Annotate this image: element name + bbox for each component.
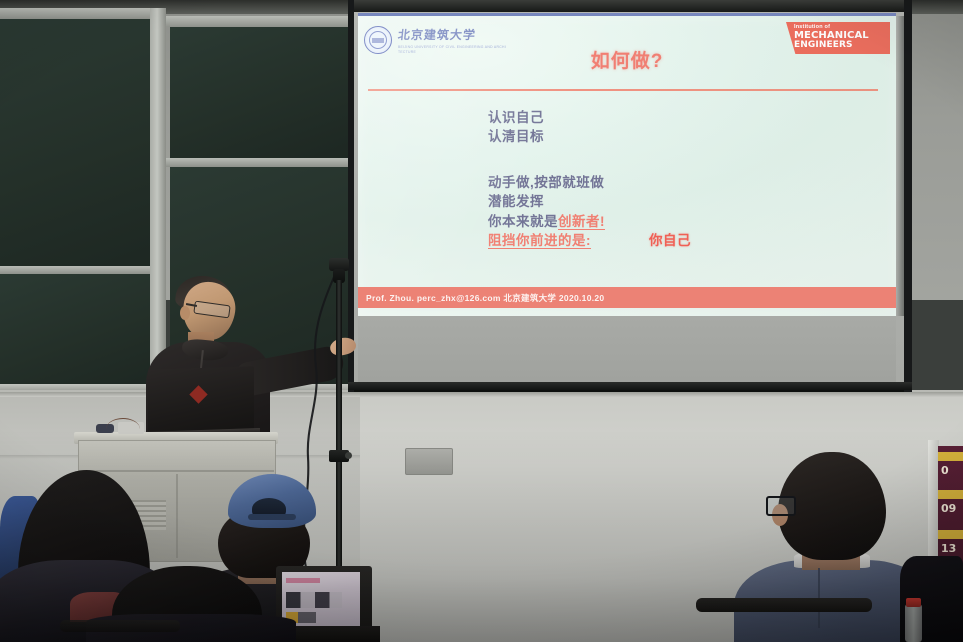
wall-speaker: [405, 448, 453, 475]
laptop-screen-content-row: [286, 592, 342, 608]
blackboard-panel-center-top: [170, 26, 350, 158]
presenter-laptop-lid: [148, 366, 254, 438]
poster-number: 13: [941, 542, 956, 555]
projected-slide: 北京建筑大学 BEIJING UNIVERSITY OF CIVIL ENGIN…: [358, 16, 896, 316]
glasses-icon: [766, 496, 796, 516]
lecture-hall-photo: 0 09 13 北京建筑大学 BEIJING UNIVERSITY OF CIV…: [0, 0, 963, 642]
screen-frame-right: [904, 0, 912, 392]
board-frame-mid-center: [163, 158, 353, 167]
poster-number: 0: [941, 464, 949, 477]
projection-screen-housing: [348, 0, 910, 12]
slide-line: 潜能发挥: [488, 192, 876, 211]
slide-footer-text: Prof. Zhou. perc_zhx@126.com 北京建筑大学 2020…: [366, 292, 604, 304]
slide-footer: Prof. Zhou. perc_zhx@126.com 北京建筑大学 2020…: [358, 287, 896, 308]
blackboard-panel-left-top: [0, 18, 152, 270]
podium-seam: [78, 470, 274, 472]
slide-line-highlight: 创新者!: [558, 214, 605, 229]
cap-strap: [248, 514, 296, 520]
poster-number: 09: [941, 502, 956, 515]
slide-title-divider: [368, 89, 878, 91]
screen-frame-bottom: [348, 382, 912, 390]
stand-adjust-knob[interactable]: [345, 452, 352, 459]
water-bottle: [905, 604, 922, 642]
slide-line-prefix: 你本来就是: [488, 214, 558, 229]
university-name: 北京建筑大学: [397, 26, 507, 43]
slide-body: 认识自己 认清目标 动手做,按部就班做 潜能发挥 你本来就是创新者! 阻挡你前进…: [488, 108, 876, 250]
blue-baseball-cap: [222, 474, 318, 540]
slide-title: 如何做?: [358, 46, 896, 73]
chair-back-right: [696, 598, 872, 612]
slide-answer-text: 你自己: [649, 233, 691, 248]
slide-line: 认识自己: [488, 108, 876, 127]
slide-question-line: 阻挡你前进的是:你自己: [488, 231, 876, 250]
slide-question-text: 阻挡你前进的是:: [488, 233, 591, 248]
board-frame-top-center: [163, 16, 353, 27]
chair-back-left: [60, 620, 180, 632]
slide-line-emphasis: 你本来就是创新者!: [488, 212, 876, 231]
presenter-ear: [180, 306, 190, 320]
slide-line: 认清目标: [488, 127, 876, 146]
board-frame-top-left: [0, 8, 152, 19]
projection-screen-blank-area: [358, 308, 896, 382]
board-frame-mid-left: [0, 266, 152, 274]
slide-line: 动手做,按部就班做: [488, 173, 876, 192]
podium-door-edge: [176, 474, 178, 558]
blackboard-panel-left-bottom: [0, 272, 152, 387]
bottle-cap-icon: [906, 598, 921, 607]
slide-body-block-2: 动手做,按部就班做 潜能发挥 你本来就是创新者! 阻挡你前进的是:你自己: [488, 173, 876, 250]
laptop-screen-content-row: [286, 578, 320, 583]
